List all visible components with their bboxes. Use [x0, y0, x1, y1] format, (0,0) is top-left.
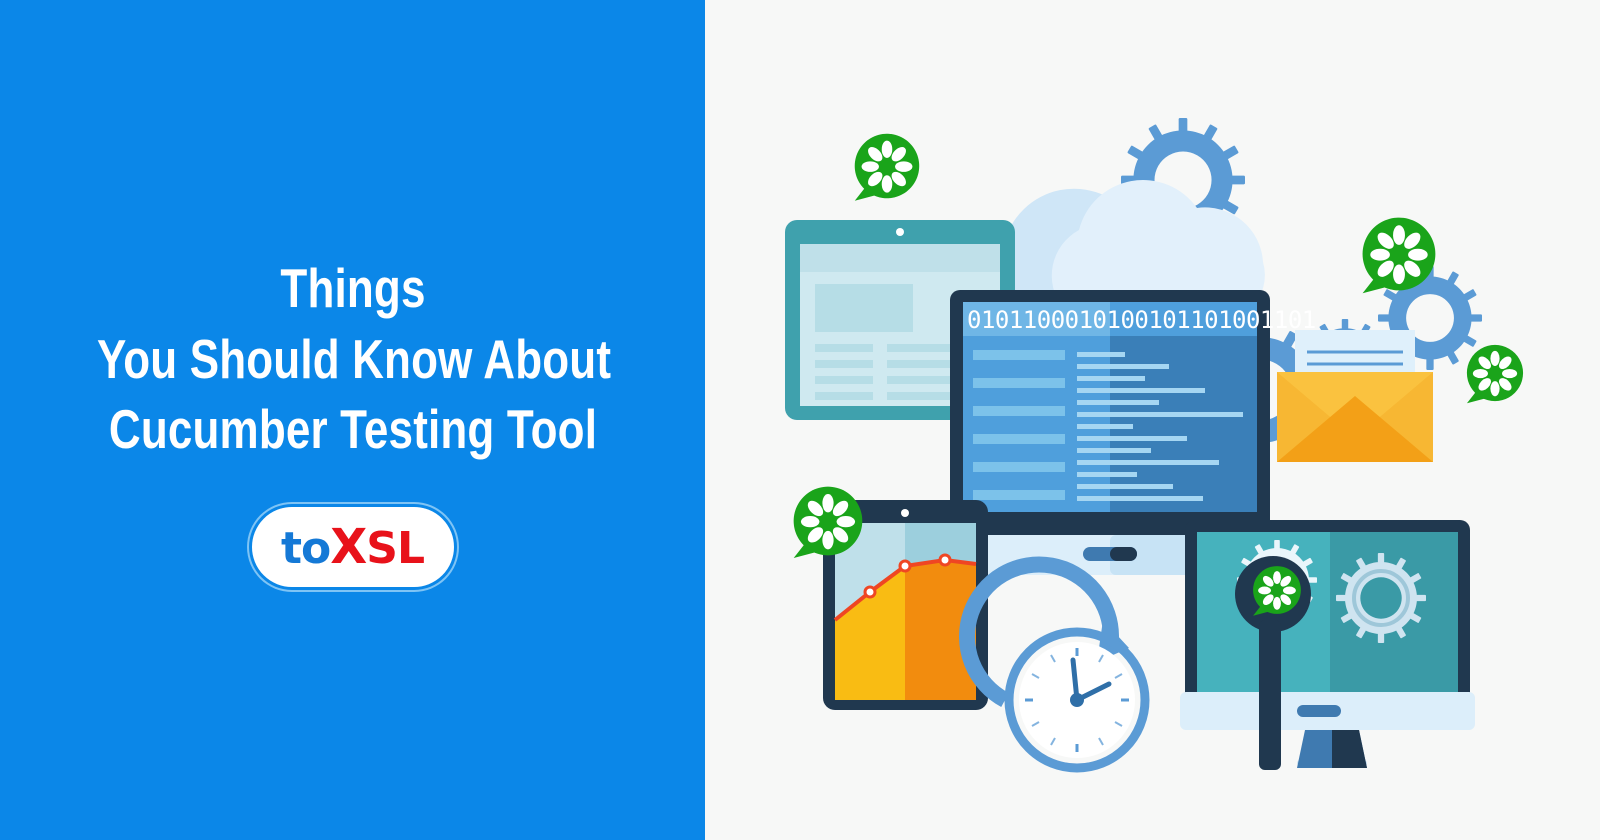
- right-illustration-panel: 0101100010100101101001101: [705, 0, 1600, 840]
- logo-text: toXSL: [281, 523, 424, 571]
- code-binary-text: 0101100010100101101001101: [967, 306, 1316, 334]
- logo-pill: toXSL: [252, 507, 454, 587]
- cucumber-logo: [855, 134, 919, 201]
- headline-line-3: Cucumber Testing Tool: [97, 394, 609, 464]
- page-title: Things You Should Know About Cucumber Te…: [33, 253, 673, 464]
- desktop-monitor-gears: [1180, 520, 1475, 770]
- brand-logo[interactable]: toXSL: [252, 507, 454, 587]
- logo-part-x: X: [330, 519, 366, 575]
- left-blue-panel: Things You Should Know About Cucumber Te…: [0, 0, 705, 840]
- blog-banner: Things You Should Know About Cucumber Te…: [0, 0, 1600, 840]
- headline-line-1: Things: [97, 253, 609, 323]
- envelope-icon: [1277, 330, 1433, 462]
- headline-line-2: You Should Know About: [97, 324, 609, 394]
- logo-part-to: to: [281, 523, 330, 574]
- clock-icon: [967, 565, 1145, 768]
- cucumber-logo: [1467, 345, 1523, 403]
- devices-illustration: 0101100010100101101001101: [705, 0, 1600, 840]
- logo-part-sl: SL: [366, 523, 424, 574]
